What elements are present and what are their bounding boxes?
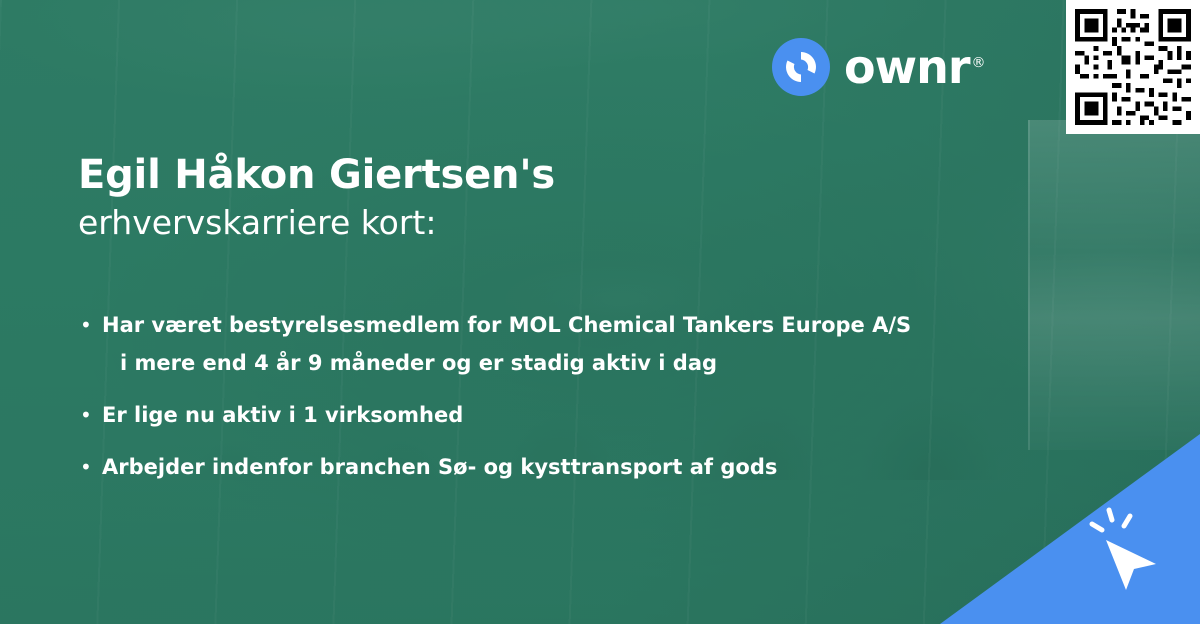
ownr-circle-logo-icon (772, 38, 830, 96)
list-item-text: Arbejder indenfor branchen Sø- og kysttr… (102, 452, 777, 482)
list-item-text: Er lige nu aktiv i 1 virksomhed (102, 400, 463, 430)
title-line-1: Egil Håkon Giertsen's (78, 152, 1038, 199)
career-card: ownr® (0, 0, 1200, 624)
title-line-2: erhvervskarriere kort: (78, 201, 1038, 246)
list-item-text: Har været bestyrelsesmedlem for MOL Chem… (102, 310, 911, 378)
ownr-wordmark: ownr® (844, 44, 985, 90)
list-item-text-main: Arbejder indenfor branchen Sø- og kysttr… (102, 455, 777, 479)
bullet-icon: • (80, 452, 102, 482)
bullet-icon: • (80, 400, 102, 430)
list-item: • Har været bestyrelsesmedlem for MOL Ch… (80, 310, 1100, 378)
list-item-text-main: Har været bestyrelsesmedlem for MOL Chem… (102, 313, 911, 337)
registered-mark: ® (972, 55, 985, 71)
career-facts-list: • Har været bestyrelsesmedlem for MOL Ch… (80, 310, 1100, 504)
page-title: Egil Håkon Giertsen's erhvervskarriere k… (78, 152, 1038, 246)
list-item: • Arbejder indenfor branchen Sø- og kyst… (80, 452, 1100, 482)
list-item: • Er lige nu aktiv i 1 virksomhed (80, 400, 1100, 430)
bullet-icon: • (80, 310, 102, 340)
ownr-wordmark-text: ownr (844, 40, 970, 94)
list-item-text-main: Er lige nu aktiv i 1 virksomhed (102, 403, 463, 427)
ownr-logo[interactable]: ownr® (772, 38, 985, 96)
list-item-text-continuation: i mere end 4 år 9 måneder og er stadig a… (120, 348, 911, 378)
qr-code-icon[interactable] (1066, 0, 1200, 134)
